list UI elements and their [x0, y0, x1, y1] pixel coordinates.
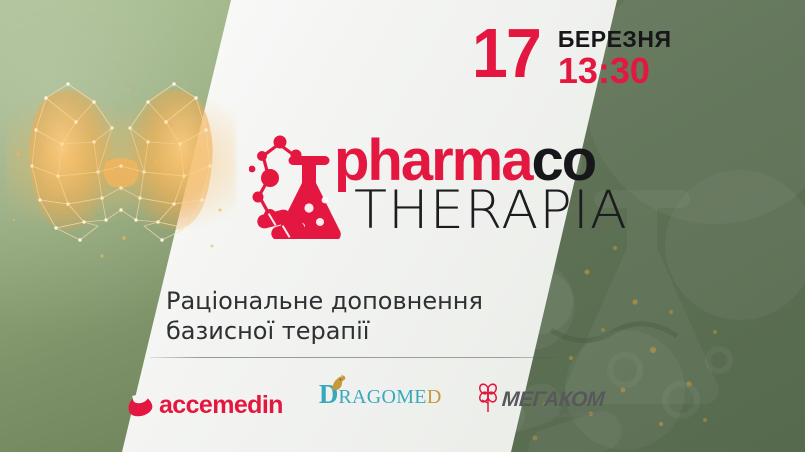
event-date-block: 17 БЕРЕЗНЯ 13:30	[472, 22, 671, 90]
event-day: 17	[472, 22, 540, 84]
logo-word-therapia: THERAPIA	[354, 186, 628, 236]
accemedin-drop-icon	[128, 394, 152, 416]
dragon-head-icon	[328, 373, 348, 393]
subtitle-line-2: базисної терапії	[166, 316, 586, 346]
logo-wordmark: pharmaco THERAPIA	[334, 132, 623, 236]
dragomed-wordmark: RAGOME	[338, 386, 426, 409]
partner-logos: accemedin D RAGOME D	[128, 382, 568, 428]
megakom-text: МЕГАКОМ Сприяємо здоров'ю	[502, 382, 604, 419]
megakom-wordmark: МЕГАКОМ	[502, 389, 606, 410]
partner-logo-megakom[interactable]: МЕГАКОМ Сприяємо здоров'ю	[477, 382, 604, 428]
partner-logo-accemedin[interactable]: accemedin	[128, 382, 283, 428]
subtitle-line-1: Раціональне доповнення	[166, 286, 586, 316]
accemedin-wordmark: accemedin	[159, 391, 283, 420]
decorative-circle	[665, 170, 805, 320]
event-date-right: БЕРЕЗНЯ 13:30	[558, 22, 672, 90]
event-subtitle: Раціональне доповнення базисної терапії	[166, 286, 586, 346]
event-banner: 17 БЕРЕЗНЯ 13:30	[0, 0, 805, 452]
dragomed-last-letter: D	[427, 386, 441, 409]
event-time: 13:30	[558, 52, 672, 90]
flask-molecule-icon	[249, 134, 344, 239]
megakom-flower-icon	[477, 383, 499, 413]
event-month: БЕРЕЗНЯ	[558, 28, 672, 51]
subtitle-divider	[150, 357, 570, 358]
megakom-tagline: Сприяємо здоров'ю	[502, 412, 604, 419]
partner-logo-dragomed[interactable]: D RAGOME D	[319, 382, 441, 428]
dragomed-initial: D	[319, 382, 339, 406]
pharmacotherapia-logo: pharmaco THERAPIA	[249, 132, 629, 244]
